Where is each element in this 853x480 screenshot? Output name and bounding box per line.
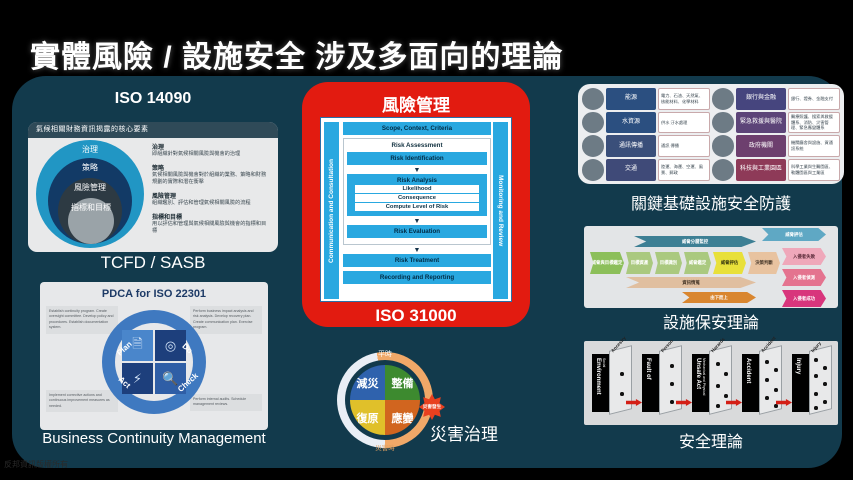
iso31000-risk-identification: Risk Identification	[347, 152, 487, 165]
facility-security-card: 威脅分層監控 威脅評估 威脅與目標鑑定 目標資產 目標識別 威脅鑑定 威脅評估 …	[584, 226, 838, 308]
ci-sector-detail: 科學工業與生醫園區、軟體園區與工業區	[788, 159, 840, 181]
disaster-wheel-bottom-label: 災害時	[337, 442, 433, 452]
energy-photo-icon	[582, 88, 604, 110]
fs-top-chevron: 威脅分層監控	[634, 236, 756, 247]
tcfd-ring-diagram: 治理 策略 風險管理 指標和目標	[36, 140, 144, 248]
fs-low-chevron: 由下而上	[682, 292, 756, 303]
iso31000-risk-treatment: Risk Treatment	[343, 254, 491, 267]
ci-sector-detail: 醫療照護、搜索與救援體系、消防、災害管理、緊急應變體系	[788, 112, 840, 134]
copyright-watermark: 反邦資訊版權所有	[4, 459, 68, 470]
tcfd-sasb-caption: TCFD / SASB	[28, 253, 278, 273]
iso31000-risk-analysis-label: Risk Analysis	[347, 177, 487, 184]
iso31000-right-sidebar-label: Monitoring and Review	[497, 175, 504, 246]
ci-sector-label: 交通	[606, 159, 656, 181]
ci-row-banking: 銀行與金融 銀行、證券、金融支付	[712, 88, 840, 110]
critical-infrastructure-caption: 關鍵基礎設施安全防護	[578, 190, 844, 214]
bcm-caption: Business Continuity Management	[20, 430, 288, 447]
domino-side	[709, 345, 732, 415]
ci-sector-label: 通訊傳播	[606, 135, 656, 157]
fs-outcome-threat-assessment: 威脅評估	[762, 228, 826, 241]
ci-sector-detail: 機關廳舍與設施、資通訊系統	[788, 135, 840, 157]
pdca-cycle-diagram: 🗎 ◎ ⚡ 🔍 Plan Do Check Act	[102, 310, 206, 414]
iso31000-process-diagram: Communication and Consultation Monitorin…	[320, 117, 512, 302]
ci-sector-detail: 通訊 傳播	[658, 135, 710, 157]
ci-row-emergency: 緊急救援與醫院 醫療照護、搜索與救援體系、消防、災害管理、緊急應變體系	[712, 112, 840, 134]
science-park-photo-icon	[712, 159, 734, 181]
ci-sector-label: 緊急救援與醫院	[736, 112, 786, 134]
tcfd-item-body: 組織鑑別、評估和管理氣候相關風險的流程	[152, 200, 270, 207]
ci-row-government: 政府機關 機關廳舍與設施、資通訊系統	[712, 135, 840, 157]
iso31000-consequence: Consequence	[355, 194, 479, 202]
tcfd-item-body: 氣候相關風險與機會對於組織的業務、策略和財務規劃的實際和潛在衝擊	[152, 172, 270, 186]
domino-face: Fault of	[642, 354, 659, 412]
domino-side	[809, 345, 832, 415]
iso31000-risk-analysis: Risk Analysis Likelihood Consequence Com…	[347, 174, 487, 216]
iso31000-assessment-heading: Risk Assessment	[347, 142, 487, 149]
disaster-governance-wheel: 減災 整備 復原 應變 平時 災害時 災害發生	[337, 352, 433, 448]
domino-sub-label: Mechanical and Physical	[702, 358, 706, 395]
tcfd-core-elements-card: 氣候相關財務資訊揭露的核心要素 治理 策略 風險管理 指標和目標 治理 即組織針…	[28, 122, 278, 252]
water-photo-icon	[582, 112, 604, 134]
page-title: 實體風險 / 設施安全 涉及多面向的理論	[30, 32, 563, 76]
ci-row-communications: 通訊傳播 通訊 傳播	[582, 135, 710, 157]
ci-sector-label: 政府機關	[736, 135, 786, 157]
tcfd-item-heading: 風險管理	[152, 191, 270, 200]
ci-sector-detail: 銀行、證券、金融支付	[788, 88, 840, 110]
critical-infrastructure-card: 能源 電力、石油、天然氣、核能材料、化學材料 水資源 供水 汙水處理 通訊傳播 …	[578, 84, 844, 184]
iso31000-right-sidebar: Monitoring and Review	[493, 122, 508, 299]
ci-sector-detail: 陸運、海運、空運、風景、郵政	[658, 159, 710, 181]
domino-main-label: Environment	[595, 358, 601, 395]
domino-face: Accident	[742, 354, 759, 412]
tcfd-item-heading: 策略	[152, 163, 270, 172]
down-arrow-icon: ▼	[347, 168, 487, 173]
ci-row-water: 水資源 供水 汙水處理	[582, 112, 710, 134]
fs-outcome-intruder-success: 入侵者成功	[782, 290, 826, 307]
tcfd-item-strategy: 策略 氣候相關風險與機會對於組織的業務、策略和財務規劃的實際和潛在衝擊	[152, 163, 270, 186]
pdca-quadrants: 🗎 ◎ ⚡ 🔍	[122, 330, 186, 394]
iso14090-title: ISO 14090	[28, 90, 278, 108]
domino-side	[609, 345, 632, 415]
domino-main-label: Accident	[745, 358, 751, 383]
ci-right-column: 銀行與金融 銀行、證券、金融支付 緊急救援與醫院 醫療照護、搜索與救援體系、消防…	[712, 88, 840, 181]
ci-row-energy: 能源 電力、石油、天然氣、核能材料、化學材料	[582, 88, 710, 110]
fs-stage-2: 目標資產	[626, 252, 653, 274]
government-photo-icon	[712, 135, 734, 157]
fs-stage-6: 決策判斷	[748, 252, 780, 274]
iso31000-compute-level-of-risk: Compute Level of Risk	[355, 203, 479, 211]
ci-sector-detail: 電力、石油、天然氣、核能材料、化學材料	[658, 88, 710, 110]
ci-row-science-park: 科技與工業園區 科學工業與生醫園區、軟體園區與工業區	[712, 159, 840, 181]
iso31000-likelihood: Likelihood	[355, 185, 479, 193]
ci-sector-detail: 供水 汙水處理	[658, 112, 710, 134]
safety-theory-card: Environment Social Ancestry Fault of Per…	[584, 341, 838, 425]
domino-sub-label: Social	[602, 358, 606, 367]
ci-sector-label: 水資源	[606, 112, 656, 134]
domino-face: Unsafe Act Mechanical and Physical	[692, 354, 709, 412]
fs-outcome-intruder-detect: 入侵者偵測	[782, 269, 826, 286]
domino-main-label: Unsafe Act	[695, 358, 701, 389]
transport-photo-icon	[582, 159, 604, 181]
fs-stage-5: 威脅評估	[713, 252, 746, 274]
tcfd-item-governance: 治理 即組織針對氣候相關風險與機會的治理	[152, 142, 270, 158]
tcfd-item-risk-management: 風險管理 組織鑑別、評估和管理氣候相關風險的流程	[152, 191, 270, 207]
tcfd-item-heading: 指標和目標	[152, 212, 270, 221]
domino-side	[659, 345, 682, 415]
fs-outcome-intruder-fail: 入侵者失敗	[782, 248, 826, 265]
critical-infrastructure-grid: 能源 電力、石油、天然氣、核能材料、化學材料 水資源 供水 汙水處理 通訊傳播 …	[582, 88, 840, 180]
disaster-wheel-quadrants: 減災 整備 復原 應變	[350, 365, 420, 435]
pdca-title: PDCA for ISO 22301	[40, 288, 268, 300]
ci-sector-label: 能源	[606, 88, 656, 110]
domino-main-label: Fault of	[645, 358, 651, 380]
tcfd-item-heading: 治理	[152, 142, 270, 151]
iso31000-left-sidebar-label: Communication and Consultation	[328, 159, 335, 263]
iso31000-scope-bar: Scope, Context, Criteria	[343, 122, 491, 135]
fs-stage-4: 威脅鑑定	[684, 252, 711, 274]
risk-management-title: 風險管理	[302, 91, 530, 116]
banking-photo-icon	[712, 88, 734, 110]
down-arrow-icon: ▼	[343, 248, 491, 253]
domino-main-label: Injury	[795, 358, 801, 374]
iso31000-recording-reporting: Recording and Reporting	[343, 271, 491, 284]
down-arrow-icon: ▼	[347, 219, 487, 224]
fs-stage-3: 目標識別	[655, 252, 682, 274]
facility-security-caption: 設施保安理論	[584, 309, 838, 333]
iso31000-risk-evaluation: Risk Evaluation	[347, 225, 487, 238]
safety-theory-caption: 安全理論	[584, 428, 838, 452]
tcfd-item-body: 即組織針對氣候相關風險與機會的治理	[152, 151, 270, 158]
ci-left-column: 能源 電力、石油、天然氣、核能材料、化學材料 水資源 供水 汙水處理 通訊傳播 …	[582, 88, 710, 181]
tcfd-description-list: 治理 即組織針對氣候相關風險與機會的治理 策略 氣候相關風險與機會對於組織的業務…	[152, 142, 270, 240]
ci-sector-label: 銀行與金融	[736, 88, 786, 110]
domino-5: Injury Injury	[792, 348, 832, 412]
ci-row-transport: 交通 陸運、海運、空運、風景、郵政	[582, 159, 710, 181]
fs-stage-1: 威脅與目標鑑定	[590, 252, 624, 274]
domino-face: Environment Social	[592, 354, 609, 412]
tcfd-item-metrics-targets: 指標和目標 用以評估和管理與氣候相關風險與機會的指標和目標	[152, 212, 270, 235]
disaster-wheel-top-label: 平時	[337, 349, 433, 359]
iso31000-risk-assessment-group: Risk Assessment Risk Identification ▼ Ri…	[343, 138, 491, 245]
pdca-iso22301-card: PDCA for ISO 22301 Establish continuity …	[40, 282, 268, 430]
slide-root: 實體風險 / 設施安全 涉及多面向的理論 反邦資訊版權所有 ISO 14090 …	[0, 0, 853, 480]
iso31000-main-column: Scope, Context, Criteria Risk Assessment…	[343, 122, 491, 287]
disaster-governance-caption: 災害治理	[430, 420, 498, 445]
tcfd-ring-metrics-targets: 指標和目標	[68, 198, 114, 244]
iso31000-left-sidebar: Communication and Consultation	[324, 122, 339, 299]
ci-sector-label: 科技與工業園區	[736, 159, 786, 181]
emergency-photo-icon	[712, 112, 734, 134]
iso31000-caption: ISO 31000	[302, 306, 530, 326]
fs-mid-chevron: 資訊情蒐	[626, 277, 756, 288]
domino-side	[759, 345, 782, 415]
tcfd-item-body: 用以評估和管理與氣候相關風險與機會的指標和目標	[152, 221, 270, 235]
domino-face: Injury	[792, 354, 809, 412]
communications-photo-icon	[582, 135, 604, 157]
tcfd-card-header: 氣候相關財務資訊揭露的核心要素	[28, 122, 278, 138]
